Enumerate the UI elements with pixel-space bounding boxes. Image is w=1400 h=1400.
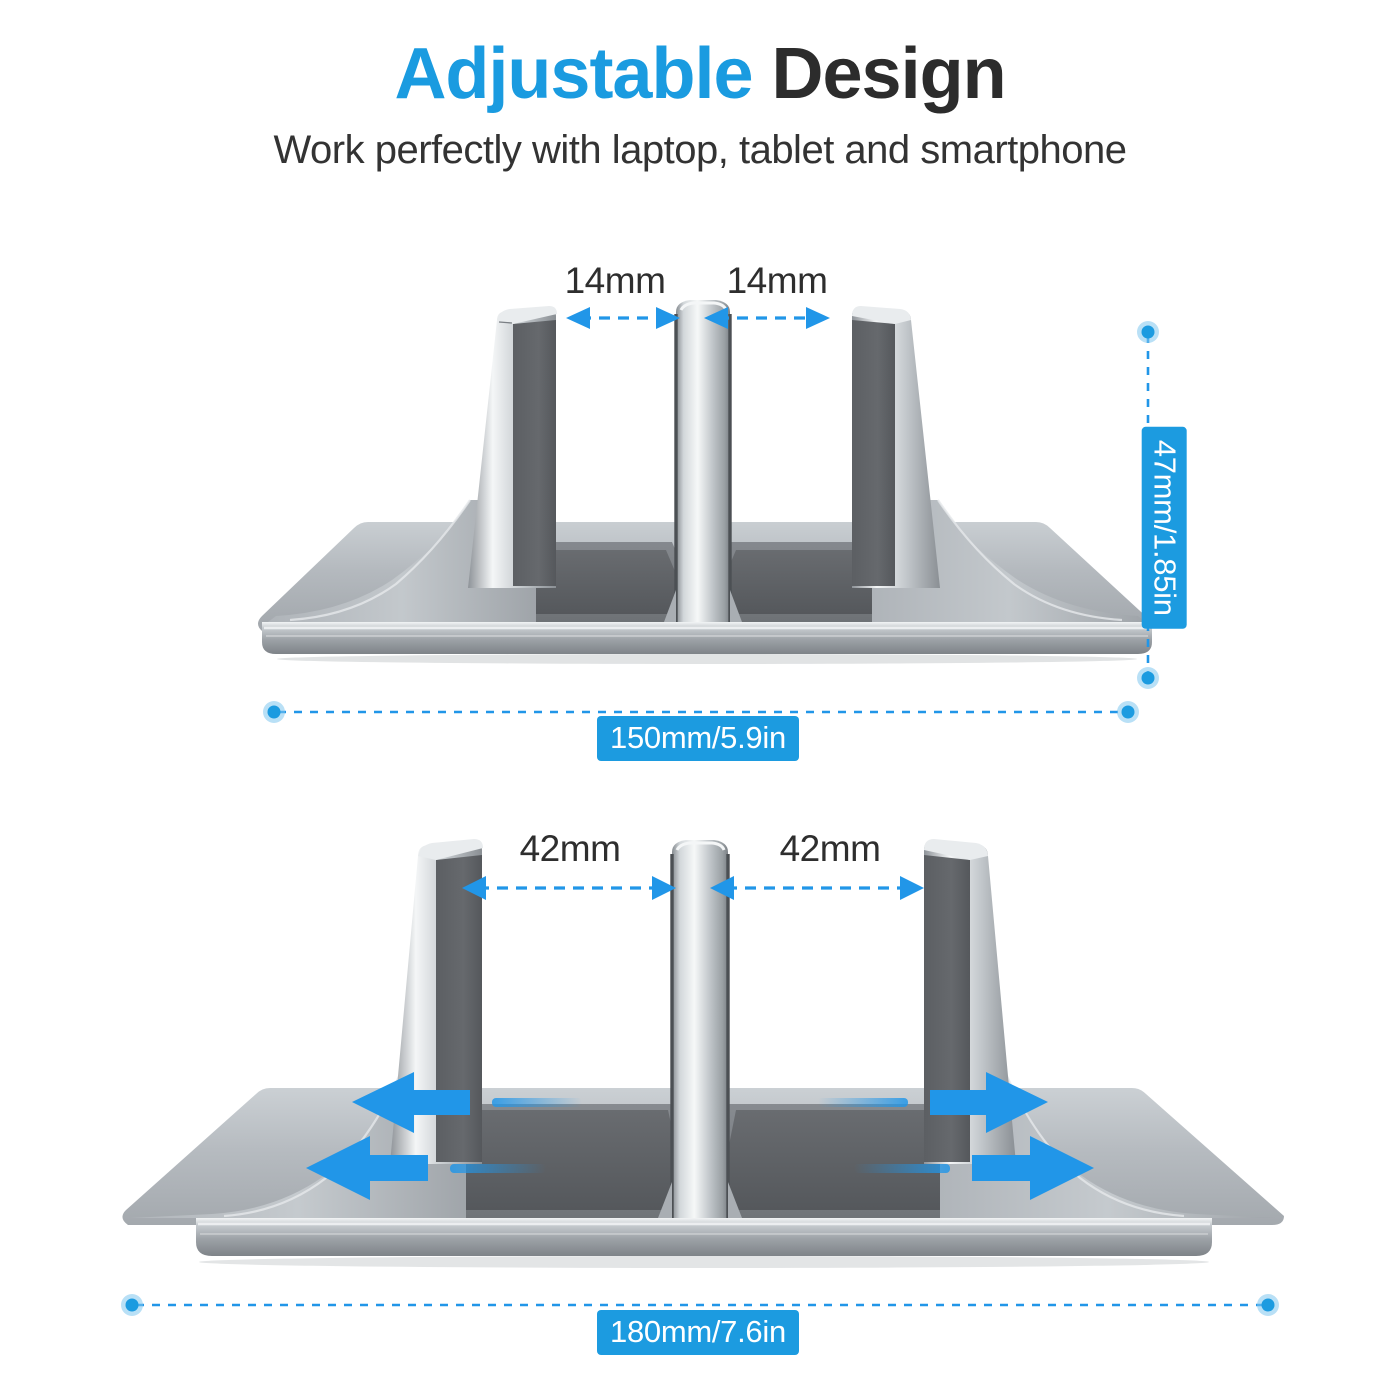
width-badge: 180mm/7.6in — [597, 1310, 799, 1355]
page-subtitle: Work perfectly with laptop, tablet and s… — [0, 128, 1400, 173]
title-highlight: Adjustable — [394, 34, 752, 114]
width-badge: 150mm/5.9in — [597, 716, 799, 761]
product-infographic: Adjustable Design Work perfectly with la… — [0, 0, 1400, 1400]
stand-closed-position: 14mm 14mm 47mm/1.85 — [0, 250, 1400, 760]
header: Adjustable Design Work perfectly with la… — [0, 38, 1400, 173]
width-dimension-line — [0, 810, 1400, 1370]
page-title: Adjustable Design — [0, 38, 1400, 110]
stand-closed-annotations: 14mm 14mm 47mm/1.85 — [0, 250, 1400, 760]
width-dimension-line — [0, 250, 1400, 760]
stand-expanded-position: 42mm 42mm 180mm/7.6 — [0, 810, 1400, 1370]
title-rest: Design — [772, 34, 1006, 114]
stand-expanded-annotations: 42mm 42mm 180mm/7.6 — [0, 810, 1400, 1370]
